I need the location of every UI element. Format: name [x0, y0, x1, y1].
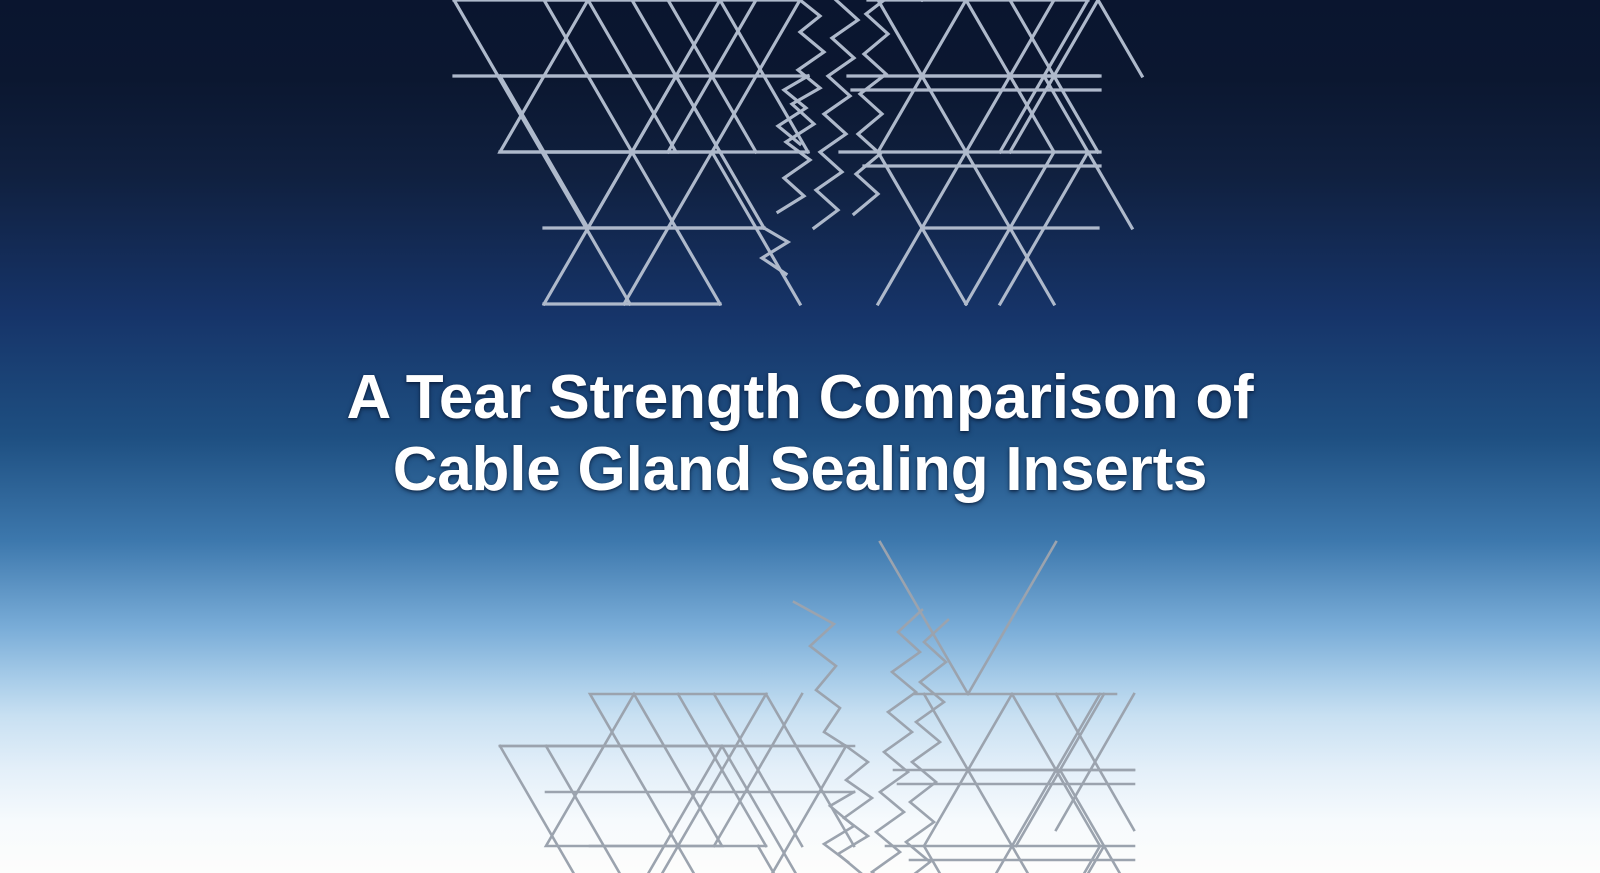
- title-line-2: Cable Gland Sealing Inserts: [40, 434, 1560, 506]
- torn-lattice-graphic-bottom: [494, 640, 1116, 873]
- lattice-right-half: [814, 0, 1142, 304]
- torn-lattice-graphic-top: [448, 0, 1088, 222]
- slide-title: A Tear Strength Comparison of Cable Glan…: [0, 362, 1600, 506]
- lattice-left-half: [454, 0, 824, 304]
- lattice-bottom-right-half: [866, 542, 1148, 873]
- title-slide: A Tear Strength Comparison of Cable Glan…: [0, 0, 1600, 873]
- lattice-bottom-left-half: [500, 602, 872, 873]
- title-line-1: A Tear Strength Comparison of: [40, 362, 1560, 434]
